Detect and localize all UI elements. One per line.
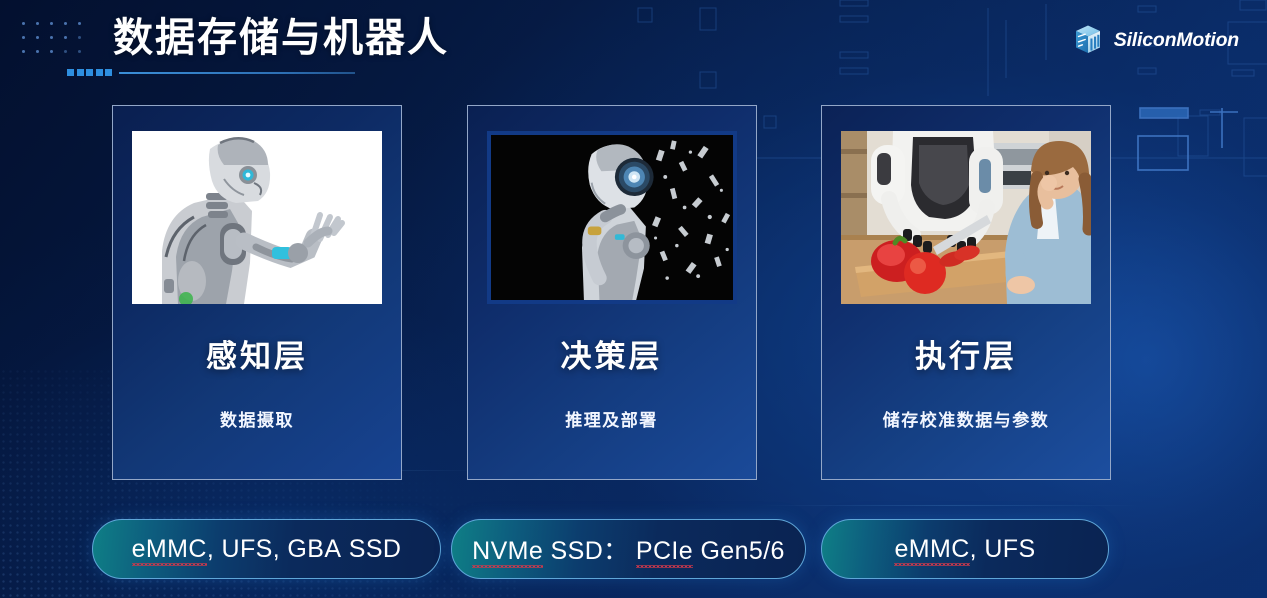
card-subtitle: 推理及部署 (468, 406, 756, 431)
title-underline-line (119, 72, 355, 74)
humanoid-robot-reaching-hand-image (132, 131, 382, 304)
pill-label: eMMC, UFS (894, 535, 1035, 564)
card-decision-layer[interactable]: 决策层 推理及部署 (467, 105, 757, 480)
card-subtitle: 数据摄取 (113, 406, 401, 431)
card-image-container (132, 131, 382, 304)
title-underline-dashes (67, 69, 112, 76)
pill-perception-storage[interactable]: eMMC, UFS, GBA SSD (92, 519, 441, 579)
title-underline (67, 69, 355, 76)
robot-chopping-vegetables-with-child-image (841, 131, 1091, 304)
card-image-container (487, 131, 737, 304)
card-image-container (841, 131, 1091, 304)
cards-row: 感知层 数据摄取 (112, 105, 1111, 480)
card-title: 决策层 (468, 331, 756, 376)
background-streak (760, 505, 1140, 506)
card-title: 执行层 (822, 331, 1110, 376)
storage-spec-pills: eMMC, UFS, GBA SSD NVMe SSD： PCIe Gen5/6… (0, 519, 1267, 581)
card-perception-layer[interactable]: 感知层 数据摄取 (112, 105, 402, 480)
brand-name: SiliconMotion (1114, 29, 1239, 52)
decorative-dot-grid (22, 22, 92, 64)
pill-execution-storage[interactable]: eMMC, UFS (821, 519, 1109, 579)
card-title: 感知层 (113, 331, 401, 376)
brand-logo: SiliconMotion (1071, 23, 1239, 57)
cube-icon (1071, 23, 1105, 57)
page-title: 数据存储与机器人 (113, 14, 449, 62)
pill-label: eMMC, UFS, GBA SSD (132, 535, 402, 564)
card-execution-layer[interactable]: 执行层 储存校准数据与参数 (821, 105, 1111, 480)
pill-decision-storage[interactable]: NVMe SSD： PCIe Gen5/6 (451, 519, 806, 579)
card-subtitle: 储存校准数据与参数 (822, 406, 1110, 431)
slide-root: 数据存储与机器人 (0, 0, 1267, 598)
thinking-robot-with-floating-data-image (491, 135, 733, 300)
pill-label: NVMe SSD： PCIe Gen5/6 (472, 531, 785, 567)
